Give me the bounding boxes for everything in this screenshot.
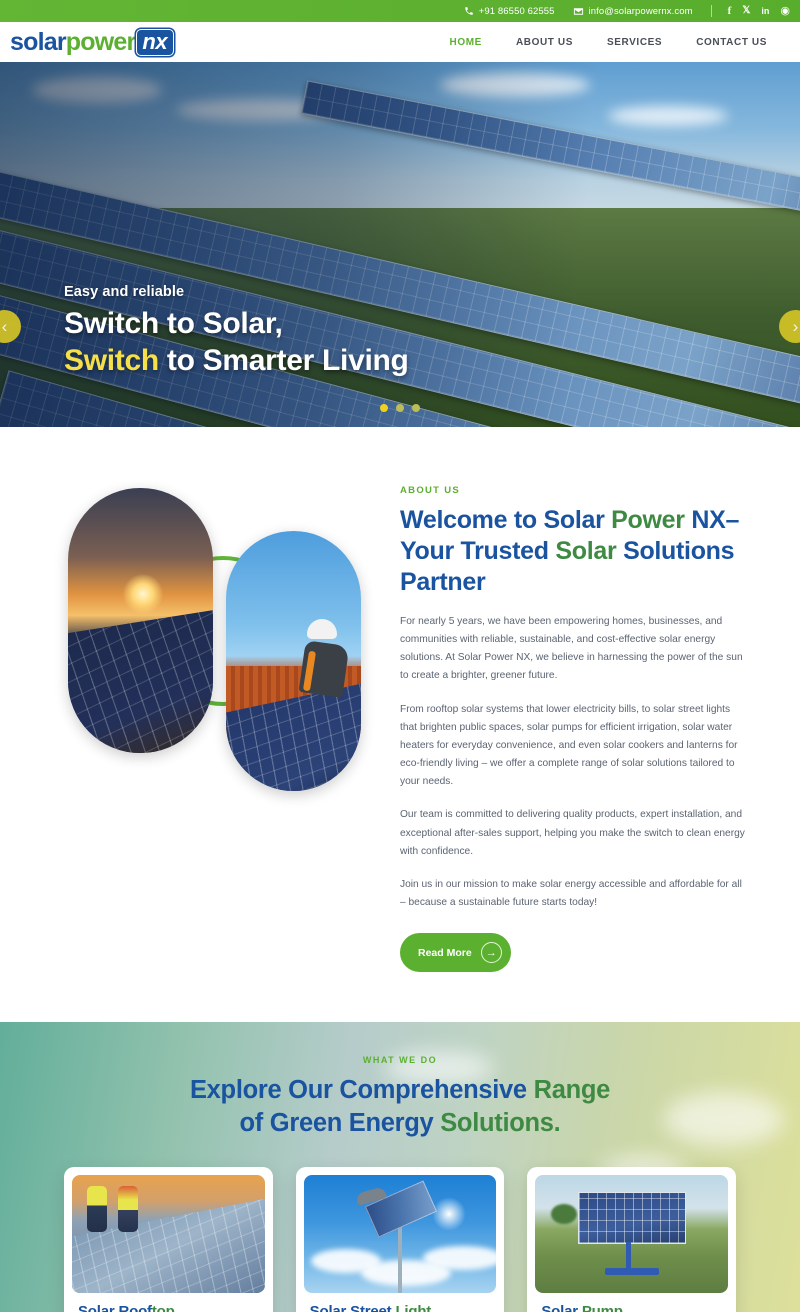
hero-subtitle: Easy and reliable bbox=[64, 284, 409, 300]
logo-badge-nx: nx bbox=[136, 29, 174, 56]
read-more-label: Read More bbox=[418, 947, 472, 959]
site-header: solarpowernx HOME ABOUT US SERVICES CONT… bbox=[0, 22, 800, 62]
carousel-dots bbox=[0, 404, 800, 412]
hero-title-line1: Switch to Solar, bbox=[64, 306, 409, 343]
about-image-group bbox=[0, 471, 400, 801]
carousel-dot-3[interactable] bbox=[412, 404, 420, 412]
nav-item-about-us[interactable]: ABOUT US bbox=[499, 37, 590, 48]
email-address: info@solarpowernx.com bbox=[589, 6, 693, 17]
about-paragraph-2: From rooftop solar systems that lower el… bbox=[400, 701, 745, 792]
about-image-installer bbox=[226, 531, 361, 791]
card-title-blue: Solar Street bbox=[310, 1303, 396, 1312]
about-heading-part1: Welcome to Solar bbox=[400, 506, 611, 534]
nav-item-home[interactable]: HOME bbox=[433, 37, 499, 48]
about-text-block: ABOUT US Welcome to Solar Power NX– Your… bbox=[400, 471, 745, 972]
carousel-dot-1[interactable] bbox=[380, 404, 388, 412]
service-card[interactable]: Solar Street Light We offer reliable and… bbox=[296, 1167, 505, 1312]
wwd-heading-green2: Solutions. bbox=[440, 1109, 560, 1137]
service-card-title: Solar Street Light bbox=[310, 1303, 491, 1312]
card-title-green: Pump bbox=[582, 1303, 623, 1312]
hero-title-line2: Switch to Smarter Living bbox=[64, 343, 409, 380]
instagram-icon[interactable]: ◉ bbox=[780, 6, 790, 17]
about-section: ABOUT US Welcome to Solar Power NX– Your… bbox=[0, 427, 800, 1022]
logo-text-solar: solar bbox=[10, 30, 66, 55]
what-we-do-heading: Explore Our Comprehensive Range of Green… bbox=[0, 1074, 800, 1140]
service-card-title: Solar Rooftop bbox=[78, 1303, 259, 1312]
hero-title: Switch to Solar, Switch to Smarter Livin… bbox=[64, 306, 409, 379]
wwd-heading-part2: of Green Energy bbox=[240, 1109, 441, 1137]
service-card-image-rooftop bbox=[72, 1175, 265, 1293]
site-logo[interactable]: solarpowernx bbox=[10, 29, 174, 56]
carousel-dot-2[interactable] bbox=[396, 404, 404, 412]
wwd-heading-green1: Range bbox=[534, 1076, 610, 1104]
nav-item-services[interactable]: SERVICES bbox=[590, 37, 679, 48]
card-title-green: top bbox=[152, 1303, 175, 1312]
facebook-icon[interactable]: f bbox=[728, 6, 732, 17]
linkedin-icon[interactable]: in bbox=[761, 7, 769, 16]
service-card[interactable]: Solar Rooftop We provide high-quality so… bbox=[64, 1167, 273, 1312]
read-more-button[interactable]: Read More → bbox=[400, 933, 511, 972]
service-card-image-street-light bbox=[304, 1175, 497, 1293]
hero-title-line2-rest: to Smarter Living bbox=[159, 344, 409, 377]
about-heading-green1: Power bbox=[611, 506, 685, 534]
what-we-do-section: WHAT WE DO Explore Our Comprehensive Ran… bbox=[0, 1022, 800, 1312]
envelope-icon bbox=[573, 6, 584, 17]
wwd-heading-part1: Explore Our Comprehensive bbox=[190, 1076, 534, 1104]
card-title-blue: Solar bbox=[541, 1303, 581, 1312]
about-heading: Welcome to Solar Power NX– Your Trusted … bbox=[400, 505, 745, 598]
service-card[interactable]: Solar Pump We provide reliable and effic… bbox=[527, 1167, 736, 1312]
service-card-title: Solar Pump bbox=[541, 1303, 722, 1312]
service-card-image-pump bbox=[535, 1175, 728, 1293]
nav-item-contact-us[interactable]: CONTACT US bbox=[679, 37, 784, 48]
about-image-sunset-panels bbox=[68, 488, 213, 753]
divider bbox=[711, 5, 712, 17]
arrow-right-icon: → bbox=[481, 942, 502, 963]
card-title-blue: Solar Roof bbox=[78, 1303, 152, 1312]
top-contact-bar: +91 86550 62555 info@solarpowernx.com f … bbox=[0, 0, 800, 22]
x-twitter-icon[interactable]: 𝕏 bbox=[742, 6, 750, 16]
hero-text-block: Easy and reliable Switch to Solar, Switc… bbox=[64, 284, 409, 379]
social-links: f 𝕏 in ◉ bbox=[728, 6, 790, 17]
phone-number: +91 86550 62555 bbox=[479, 6, 555, 17]
about-paragraph-1: For nearly 5 years, we have been empower… bbox=[400, 613, 745, 686]
main-navigation: HOME ABOUT US SERVICES CONTACT US bbox=[433, 37, 784, 48]
about-heading-green2: Solar bbox=[555, 537, 616, 565]
card-title-green: Light bbox=[395, 1303, 431, 1312]
phone-icon bbox=[464, 6, 474, 16]
hero-carousel: Easy and reliable Switch to Solar, Switc… bbox=[0, 62, 800, 427]
about-eyebrow: ABOUT US bbox=[400, 485, 745, 496]
about-paragraph-3: Our team is committed to delivering qual… bbox=[400, 806, 745, 860]
logo-text-power: power bbox=[66, 30, 136, 55]
service-card-list: Solar Rooftop We provide high-quality so… bbox=[0, 1167, 800, 1312]
about-paragraph-4: Join us in our mission to make solar ene… bbox=[400, 876, 745, 912]
what-we-do-eyebrow: WHAT WE DO bbox=[0, 1055, 800, 1065]
phone-link[interactable]: +91 86550 62555 bbox=[464, 6, 555, 17]
hero-title-highlight: Switch bbox=[64, 344, 159, 377]
email-link[interactable]: info@solarpowernx.com bbox=[573, 6, 693, 17]
